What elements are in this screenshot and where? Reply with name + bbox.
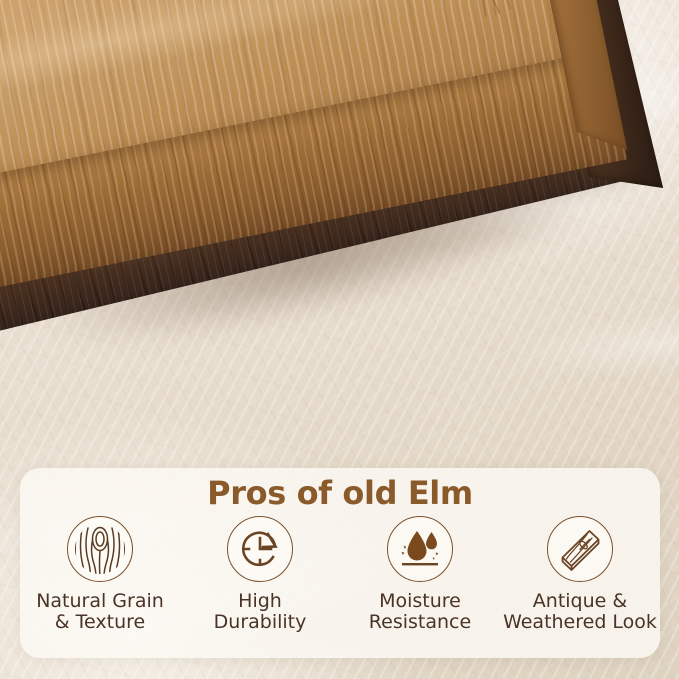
pros-info-card: Pros of old Elm xyxy=(20,468,660,658)
feature-item-natural-grain: Natural Grain & Texture xyxy=(20,516,180,634)
feature-item-antique-weathered: Antique & Weathered Look xyxy=(500,516,660,634)
feature-item-moisture-resistance: Moisture Resistance xyxy=(340,516,500,634)
card-title: Pros of old Elm xyxy=(20,474,660,512)
feature-label: High Durability xyxy=(214,591,307,634)
wood-grain-icon xyxy=(67,516,133,582)
feature-list: Natural Grain & Texture xyxy=(20,516,660,634)
product-image: Pros of old Elm xyxy=(0,0,679,679)
feature-label: Antique & Weathered Look xyxy=(503,591,657,634)
feature-label: Moisture Resistance xyxy=(369,591,471,634)
clock-rotate-icon xyxy=(227,516,293,582)
wood-plank-icon xyxy=(547,516,613,582)
water-droplet-icon xyxy=(387,516,453,582)
feature-label: Natural Grain & Texture xyxy=(36,591,164,634)
feature-item-high-durability: High Durability xyxy=(180,516,340,634)
